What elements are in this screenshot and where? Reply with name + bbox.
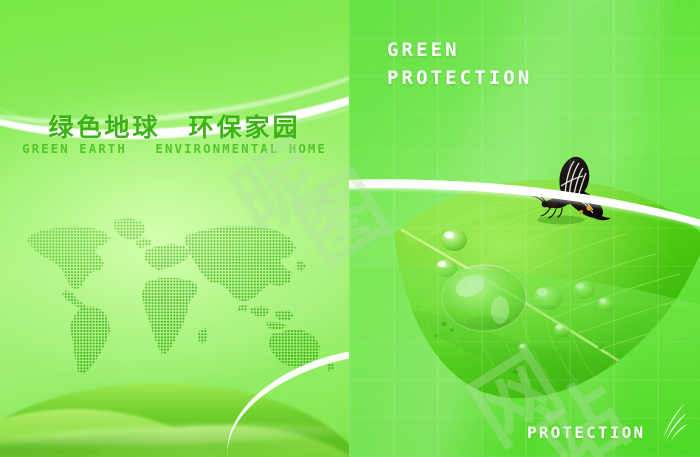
left-panel: 绿色地球 环保家园 GREEN EARTH ENVIRONMENTAL HOME <box>0 0 349 457</box>
chinese-title: 绿色地球 环保家园 <box>0 108 349 144</box>
right-heading: GREEN PROTECTION <box>387 36 532 92</box>
heading-line-1: GREEN <box>387 39 460 61</box>
heading-line-2: PROTECTION <box>387 64 532 92</box>
rolling-hills-graphic <box>0 365 349 457</box>
footer-brand-lockup: PROTECTION <box>527 401 689 443</box>
grass-blades-logo-icon <box>647 401 689 445</box>
right-panel: GREEN PROTECTION <box>349 0 700 457</box>
poster-canvas: 绿色地球 环保家园 GREEN EARTH ENVIRONMENTAL HOME <box>0 0 700 457</box>
footer-protection-text: PROTECTION <box>527 425 645 443</box>
english-subtitle: GREEN EARTH ENVIRONMENTAL HOME <box>0 141 349 156</box>
world-map-graphic <box>18 212 338 377</box>
butterfly-graphic <box>517 152 615 232</box>
